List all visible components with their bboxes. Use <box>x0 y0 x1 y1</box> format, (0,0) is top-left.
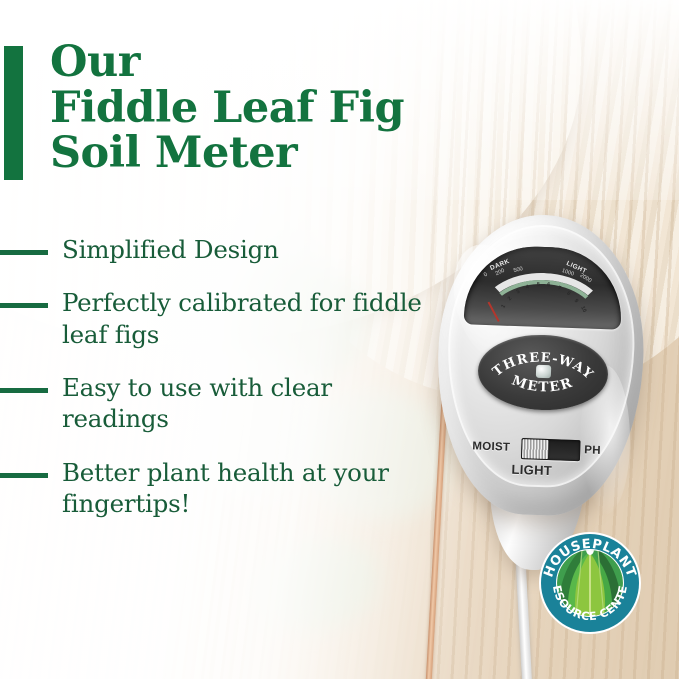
heading-line-1: Our <box>50 40 470 86</box>
list-item: Perfectly calibrated for fiddle leaf fig… <box>0 287 430 350</box>
switch-track[interactable] <box>521 438 581 461</box>
gauge-tick-number: 9 <box>573 298 580 304</box>
gauge-tick-numbers: 12345678910 <box>488 276 599 306</box>
dash-bullet-icon <box>0 388 48 393</box>
switch-label-light: LIGHT <box>511 462 552 478</box>
feature-list: Simplified Design Perfectly calibrated f… <box>0 234 430 542</box>
three-way-meter-badge: THREE-WAY METER <box>477 333 610 412</box>
gauge-tick-number: 4 <box>526 284 531 291</box>
gauge-tick-number: 6 <box>547 282 551 288</box>
heading-line-3: Soil Meter <box>50 131 470 177</box>
switch-label-moist: MOIST <box>472 440 510 453</box>
mode-switch[interactable]: MOIST PH LIGHT <box>471 430 623 483</box>
page-title: Our Fiddle Leaf Fig Soil Meter <box>50 40 470 177</box>
list-item-label: Perfectly calibrated for fiddle leaf fig… <box>62 288 422 348</box>
list-item: Easy to use with clear readings <box>0 372 430 435</box>
dash-bullet-icon <box>0 473 48 478</box>
dash-bullet-icon <box>0 250 48 255</box>
switch-label-ph: PH <box>584 444 601 457</box>
list-item-label: Easy to use with clear readings <box>62 373 332 433</box>
gauge-tick-number: 8 <box>565 290 571 297</box>
gauge-tick-number: 5 <box>537 282 541 288</box>
badge-center-reflection <box>536 365 551 379</box>
gauge-tick-number: 7 <box>556 285 561 292</box>
houseplant-resource-center-logo: HOUSEPLANT RESOURCE CENTER <box>538 531 642 635</box>
switch-knob[interactable] <box>522 439 549 459</box>
list-item-label: Simplified Design <box>62 235 279 264</box>
list-item-label: Better plant health at your fingertips! <box>62 458 389 518</box>
promo-graphic: Our Fiddle Leaf Fig Soil Meter Simplifie… <box>0 0 679 679</box>
analog-gauge: DARK LIGHT 0 200 500 1000 2000 123456789… <box>464 244 624 329</box>
heading-line-2: Fiddle Leaf Fig <box>50 86 470 132</box>
heading-accent-bar <box>4 46 23 180</box>
gauge-tick-number: 2 <box>507 295 513 301</box>
list-item: Better plant health at your fingertips! <box>0 457 430 520</box>
dash-bullet-icon <box>0 303 48 308</box>
list-item: Simplified Design <box>0 234 430 265</box>
gauge-tick-number: 3 <box>516 288 522 295</box>
